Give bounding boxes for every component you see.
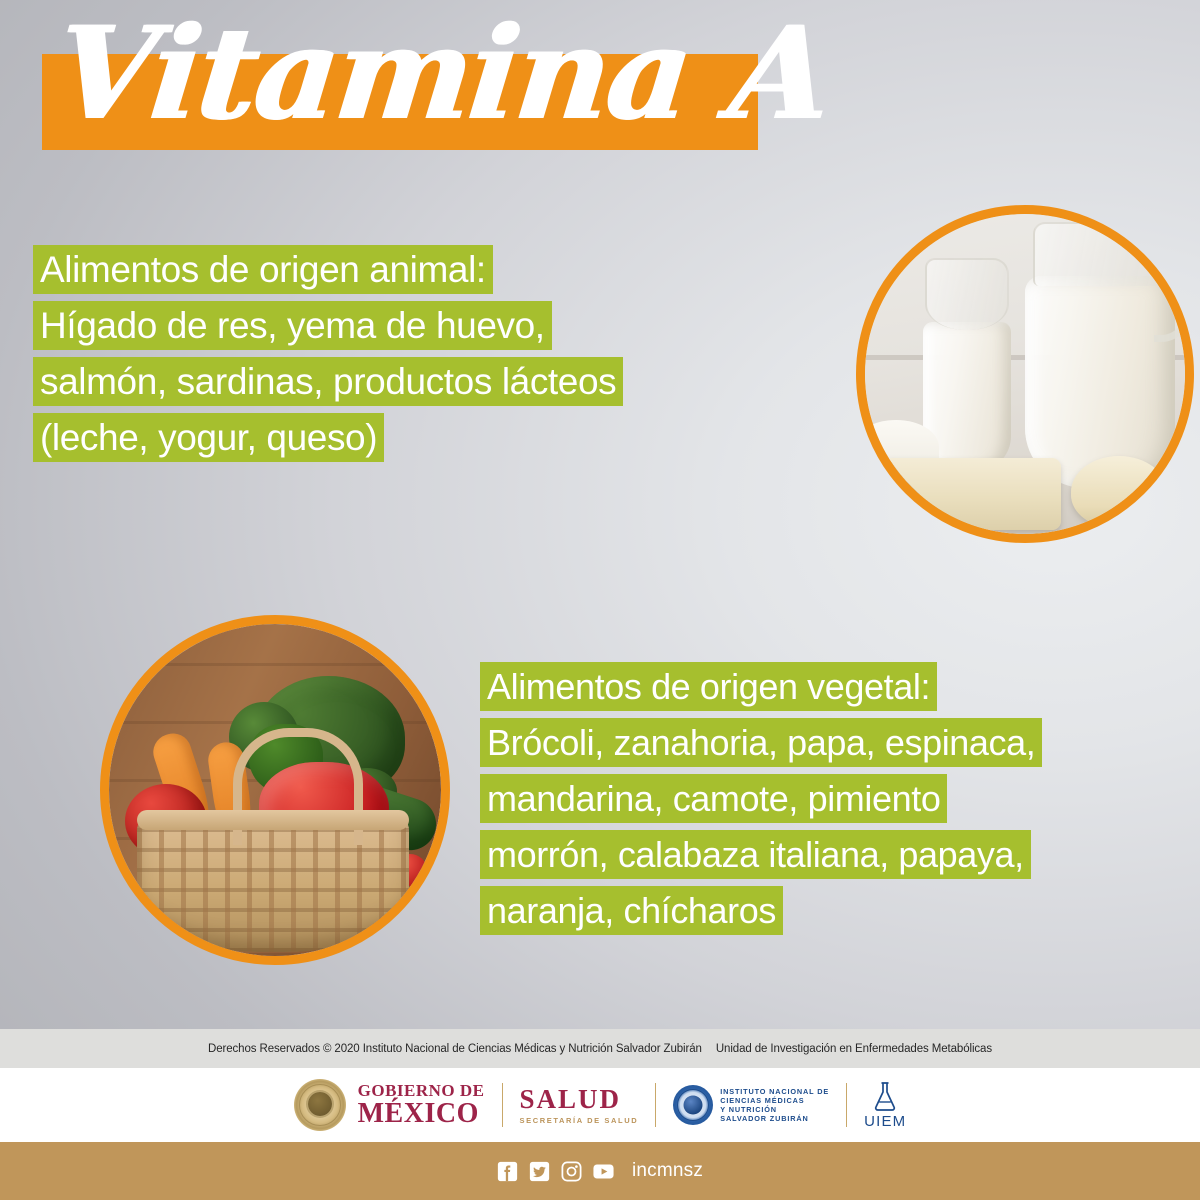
cheese-block <box>883 458 1061 530</box>
dairy-photo-inner <box>865 214 1185 534</box>
incmnsz-seal-icon <box>673 1085 713 1125</box>
uiem-logo: UIEM <box>864 1081 906 1130</box>
vegetal-line-5: naranja, chícharos <box>480 886 783 935</box>
animal-line-4: (leche, yogur, queso) <box>33 413 384 462</box>
page-title: Vitamina A <box>49 4 835 144</box>
milk-pitcher <box>1025 276 1175 488</box>
copyright-right-text: Unidad de Investigación en Enfermedades … <box>716 1043 992 1055</box>
facebook-icon[interactable] <box>497 1161 518 1182</box>
wicker-basket <box>137 816 409 952</box>
logo-divider <box>502 1083 503 1127</box>
title-header: Vitamina A <box>0 0 1200 190</box>
vegetable-basket-photo <box>100 615 450 965</box>
gobierno-text: GOBIERNO DE MÉXICO <box>358 1082 485 1128</box>
cheese-round <box>1071 456 1167 528</box>
animal-line-3: salmón, sardinas, productos lácteos <box>33 357 623 406</box>
animal-foods-text-block: Alimentos de origen animal: Hígado de re… <box>33 245 623 469</box>
social-bar: incmnsz <box>0 1142 1200 1200</box>
social-handle[interactable]: incmnsz <box>632 1160 703 1182</box>
copyright-left-text: Derechos Reservados © 2020 Instituto Nac… <box>208 1043 702 1055</box>
vegetal-line-3: mandarina, camote, pimiento <box>480 774 947 823</box>
instagram-icon[interactable] <box>561 1161 582 1182</box>
logo-row: GOBIERNO DE MÉXICO SALUD SECRETARÍA DE S… <box>0 1068 1200 1142</box>
copyright-text: Derechos Reservados © 2020 Instituto Nac… <box>0 1029 1200 1068</box>
cherry-tomato <box>413 872 441 904</box>
gobierno-line-1: GOBIERNO DE <box>358 1082 485 1099</box>
gobierno-de-mexico-logo: GOBIERNO DE MÉXICO <box>294 1079 485 1131</box>
incmnsz-line-4: SALVADOR ZUBIRÁN <box>720 1114 829 1123</box>
vegetal-line-4: morrón, calabaza italiana, papaya, <box>480 830 1031 879</box>
salud-logo: SALUD SECRETARÍA DE SALUD <box>520 1086 639 1125</box>
youtube-icon[interactable] <box>593 1161 614 1182</box>
incmnsz-line-2: CIENCIAS MÉDICAS <box>720 1096 829 1105</box>
logo-divider <box>655 1083 656 1127</box>
vegetal-line-1: Alimentos de origen vegetal: <box>480 662 937 711</box>
uiem-label: UIEM <box>864 1113 906 1130</box>
logo-divider <box>846 1083 847 1127</box>
basket-rim <box>137 810 409 830</box>
veg-photo-inner <box>109 624 441 956</box>
incmnsz-line-3: Y NUTRICIÓN <box>720 1105 829 1114</box>
incmnsz-logo: INSTITUTO NACIONAL DE CIENCIAS MÉDICAS Y… <box>673 1085 829 1125</box>
flask-icon <box>872 1081 898 1111</box>
animal-line-2: Hígado de res, yema de huevo, <box>33 301 552 350</box>
dairy-products-photo <box>856 205 1194 543</box>
mexican-eagle-seal-icon <box>294 1079 346 1131</box>
vegetal-foods-text-block: Alimentos de origen vegetal: Brócoli, za… <box>480 662 1042 942</box>
salud-subtitle: SECRETARÍA DE SALUD <box>520 1116 639 1125</box>
gobierno-line-2: MÉXICO <box>358 1100 485 1128</box>
animal-line-1: Alimentos de origen animal: <box>33 245 493 294</box>
twitter-icon[interactable] <box>529 1161 550 1182</box>
incmnsz-text: INSTITUTO NACIONAL DE CIENCIAS MÉDICAS Y… <box>720 1087 829 1123</box>
salud-title: SALUD <box>520 1086 639 1113</box>
incmnsz-line-1: INSTITUTO NACIONAL DE <box>720 1087 829 1096</box>
infographic-poster: Vitamina A Alimentos de origen animal: H… <box>0 0 1200 1200</box>
vegetal-line-2: Brócoli, zanahoria, papa, espinaca, <box>480 718 1042 767</box>
